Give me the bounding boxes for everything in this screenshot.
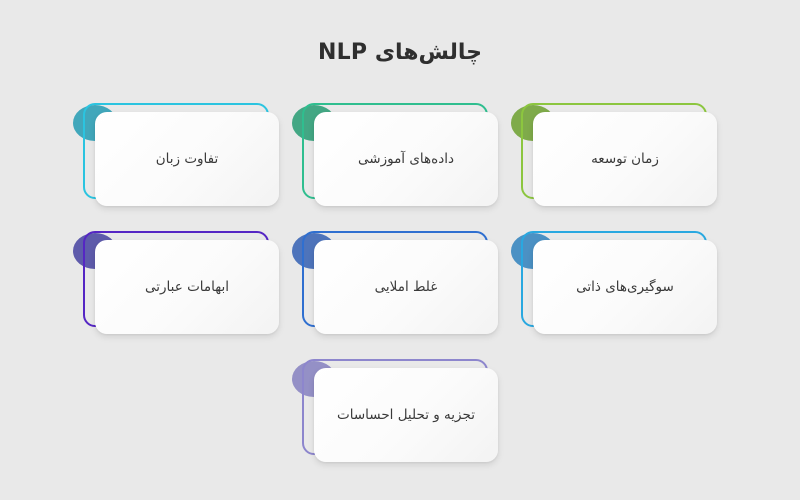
card-label: تجزیه و تحلیل احساسات — [327, 404, 485, 426]
card-row-1: زمان توسعه داده‌های آموزشی تفاوت زبان — [0, 103, 800, 209]
card-label: تفاوت زبان — [146, 148, 229, 170]
card-panel[interactable]: تفاوت زبان — [95, 112, 279, 206]
card-panel[interactable]: ابهامات عبارتی — [95, 240, 279, 334]
card-panel[interactable]: سوگیری‌های ذاتی — [533, 240, 717, 334]
card-panel[interactable]: داده‌های آموزشی — [314, 112, 498, 206]
card-tafavot-zaban[interactable]: تفاوت زبان — [83, 103, 279, 209]
card-label: سوگیری‌های ذاتی — [566, 276, 684, 298]
card-tajzieh-tahlil-ehsasat[interactable]: تجزیه و تحلیل احساسات — [302, 359, 498, 465]
card-label: داده‌های آموزشی — [348, 148, 464, 170]
card-panel[interactable]: غلط املایی — [314, 240, 498, 334]
card-ebhamat-ebarati[interactable]: ابهامات عبارتی — [83, 231, 279, 337]
card-panel[interactable]: تجزیه و تحلیل احساسات — [314, 368, 498, 462]
card-row-3: تجزیه و تحلیل احساسات — [0, 359, 800, 465]
card-zaman-toseeh[interactable]: زمان توسعه — [521, 103, 717, 209]
challenge-card-grid: زمان توسعه داده‌های آموزشی تفاوت زبان سو… — [0, 103, 800, 483]
page-title: چالش‌های NLP — [0, 40, 800, 65]
card-panel[interactable]: زمان توسعه — [533, 112, 717, 206]
card-dadehaye-amoozeshi[interactable]: داده‌های آموزشی — [302, 103, 498, 209]
card-label: ابهامات عبارتی — [135, 276, 239, 298]
card-label: زمان توسعه — [581, 148, 669, 170]
card-row-2: سوگیری‌های ذاتی غلط املایی ابهامات عبارت… — [0, 231, 800, 337]
card-ghalat-emlaei[interactable]: غلط املایی — [302, 231, 498, 337]
card-sogirihaye-zati[interactable]: سوگیری‌های ذاتی — [521, 231, 717, 337]
card-label: غلط املایی — [365, 276, 448, 298]
